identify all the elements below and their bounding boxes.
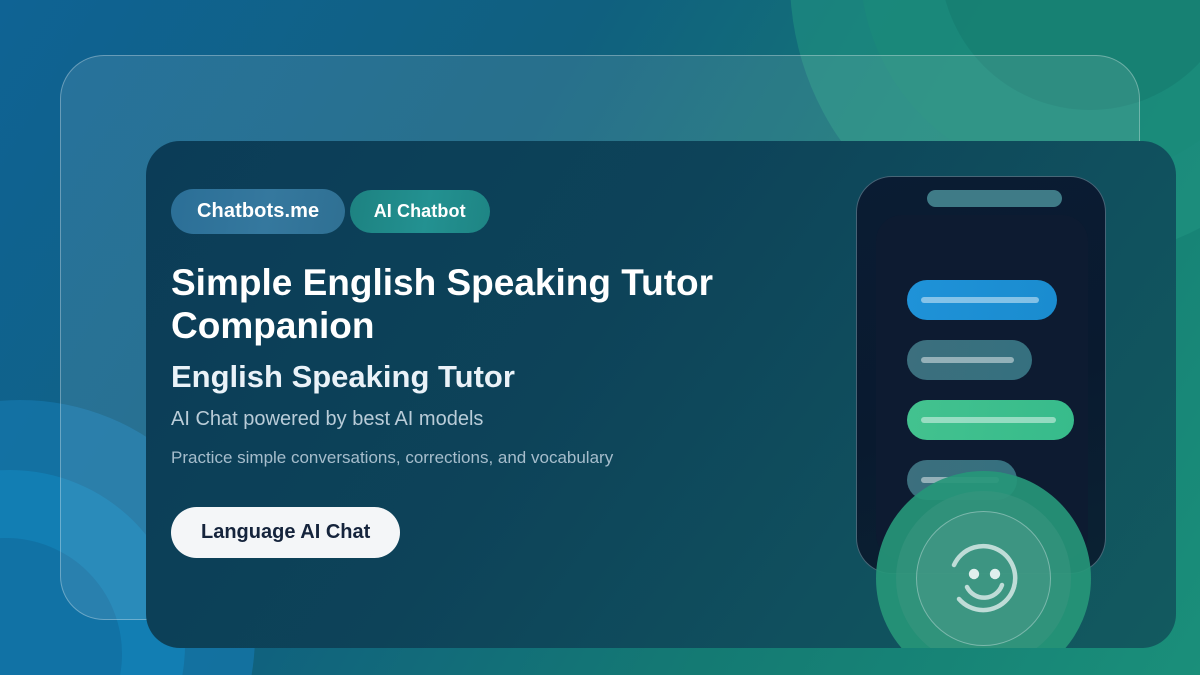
chat-bubble-text-line — [921, 357, 1014, 363]
content-column: Chatbots.me AI Chatbot Simple English Sp… — [171, 166, 861, 558]
page-subtitle: English Speaking Tutor — [171, 359, 861, 395]
language-ai-chat-button[interactable]: Language AI Chat — [171, 507, 400, 558]
chat-bubble-assistant — [907, 400, 1074, 440]
hero-card: Chatbots.me AI Chatbot Simple English Sp… — [146, 141, 1176, 648]
chat-bubble-text-line — [921, 297, 1039, 303]
chat-bubble-text-line — [921, 417, 1056, 423]
brand-badge[interactable]: Chatbots.me — [171, 189, 345, 234]
promo-banner: Chatbots.me AI Chatbot Simple English Sp… — [0, 0, 1200, 675]
phone-header-bar — [927, 190, 1062, 207]
tagline-text: AI Chat powered by best AI models — [171, 408, 861, 431]
smiley-face-icon — [932, 527, 1036, 631]
chat-bubble-assistant — [907, 340, 1032, 380]
chat-bubble-user — [907, 280, 1057, 320]
page-title: Simple English Speaking Tutor Companion — [171, 262, 831, 348]
description-text: Practice simple conversations, correctio… — [171, 448, 861, 468]
outer-frame: Chatbots.me AI Chatbot Simple English Sp… — [60, 55, 1140, 620]
category-badge[interactable]: AI Chatbot — [350, 190, 490, 233]
